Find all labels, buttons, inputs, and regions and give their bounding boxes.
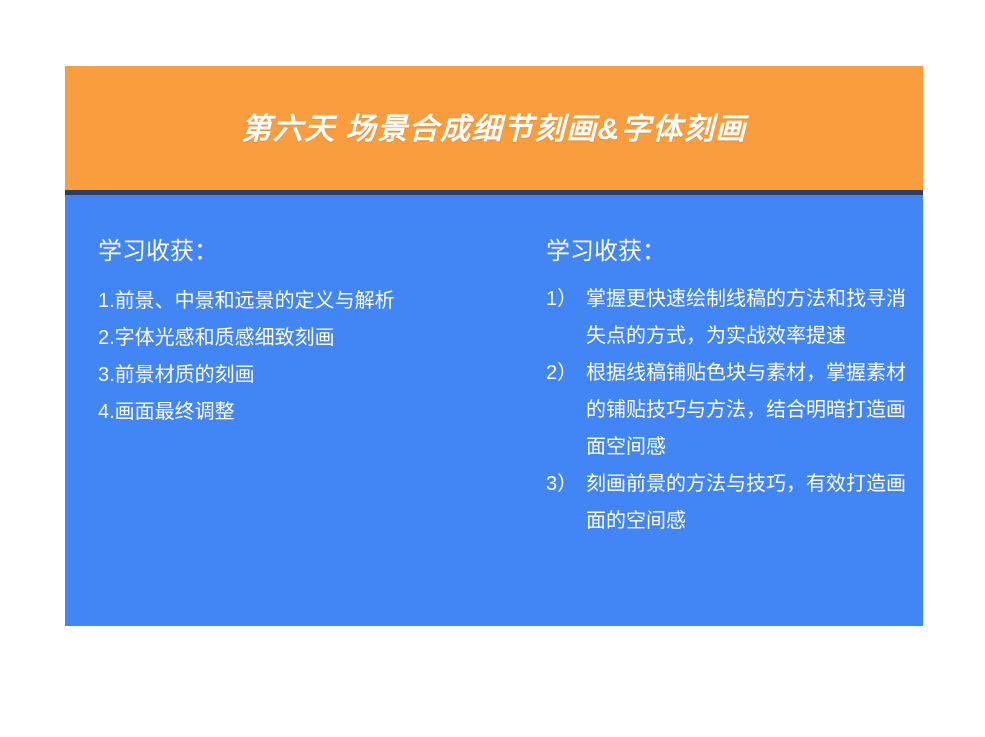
- list-item-marker: 2）: [546, 355, 577, 392]
- list-item: 3.前景材质的刻画: [98, 357, 518, 394]
- list-item-text: 刻画前景的方法与技巧，有效打造画面的空间感: [586, 466, 921, 540]
- slide-title: 第六天 场景合成细节刻画&字体刻画: [241, 112, 747, 148]
- list-item-text: 根据线稿铺贴色块与素材，掌握素材的铺贴技巧与方法，结合明暗打造画面空间感: [586, 355, 921, 466]
- list-item: 1） 掌握更快速绘制线稿的方法和找寻消失点的方式，为实战效率提速: [546, 281, 921, 355]
- left-column-heading: 学习收获：: [98, 236, 518, 267]
- content-body: 学习收获： 1.前景、中景和远景的定义与解析 2.字体光感和质感细致刻画 3.前…: [65, 195, 923, 626]
- left-column: 学习收获： 1.前景、中景和远景的定义与解析 2.字体光感和质感细致刻画 3.前…: [98, 195, 518, 431]
- right-column-heading: 学习收获：: [546, 236, 921, 267]
- list-item-marker: 3）: [546, 466, 577, 503]
- right-column: 学习收获： 1） 掌握更快速绘制线稿的方法和找寻消失点的方式，为实战效率提速 2…: [546, 195, 921, 540]
- slide-canvas: 第六天 场景合成细节刻画&字体刻画 学习收获： 1.前景、中景和远景的定义与解析…: [0, 0, 985, 737]
- list-item: 1.前景、中景和远景的定义与解析: [98, 283, 518, 320]
- list-item-text: 掌握更快速绘制线稿的方法和找寻消失点的方式，为实战效率提速: [586, 281, 921, 355]
- right-column-list: 1） 掌握更快速绘制线稿的方法和找寻消失点的方式，为实战效率提速 2） 根据线稿…: [546, 281, 921, 540]
- list-item: 4.画面最终调整: [98, 394, 518, 431]
- list-item: 3） 刻画前景的方法与技巧，有效打造画面的空间感: [546, 466, 921, 540]
- left-column-list: 1.前景、中景和远景的定义与解析 2.字体光感和质感细致刻画 3.前景材质的刻画…: [98, 283, 518, 431]
- title-banner: 第六天 场景合成细节刻画&字体刻画: [65, 66, 923, 193]
- list-item-marker: 1）: [546, 281, 577, 318]
- list-item: 2.字体光感和质感细致刻画: [98, 320, 518, 357]
- list-item: 2） 根据线稿铺贴色块与素材，掌握素材的铺贴技巧与方法，结合明暗打造画面空间感: [546, 355, 921, 466]
